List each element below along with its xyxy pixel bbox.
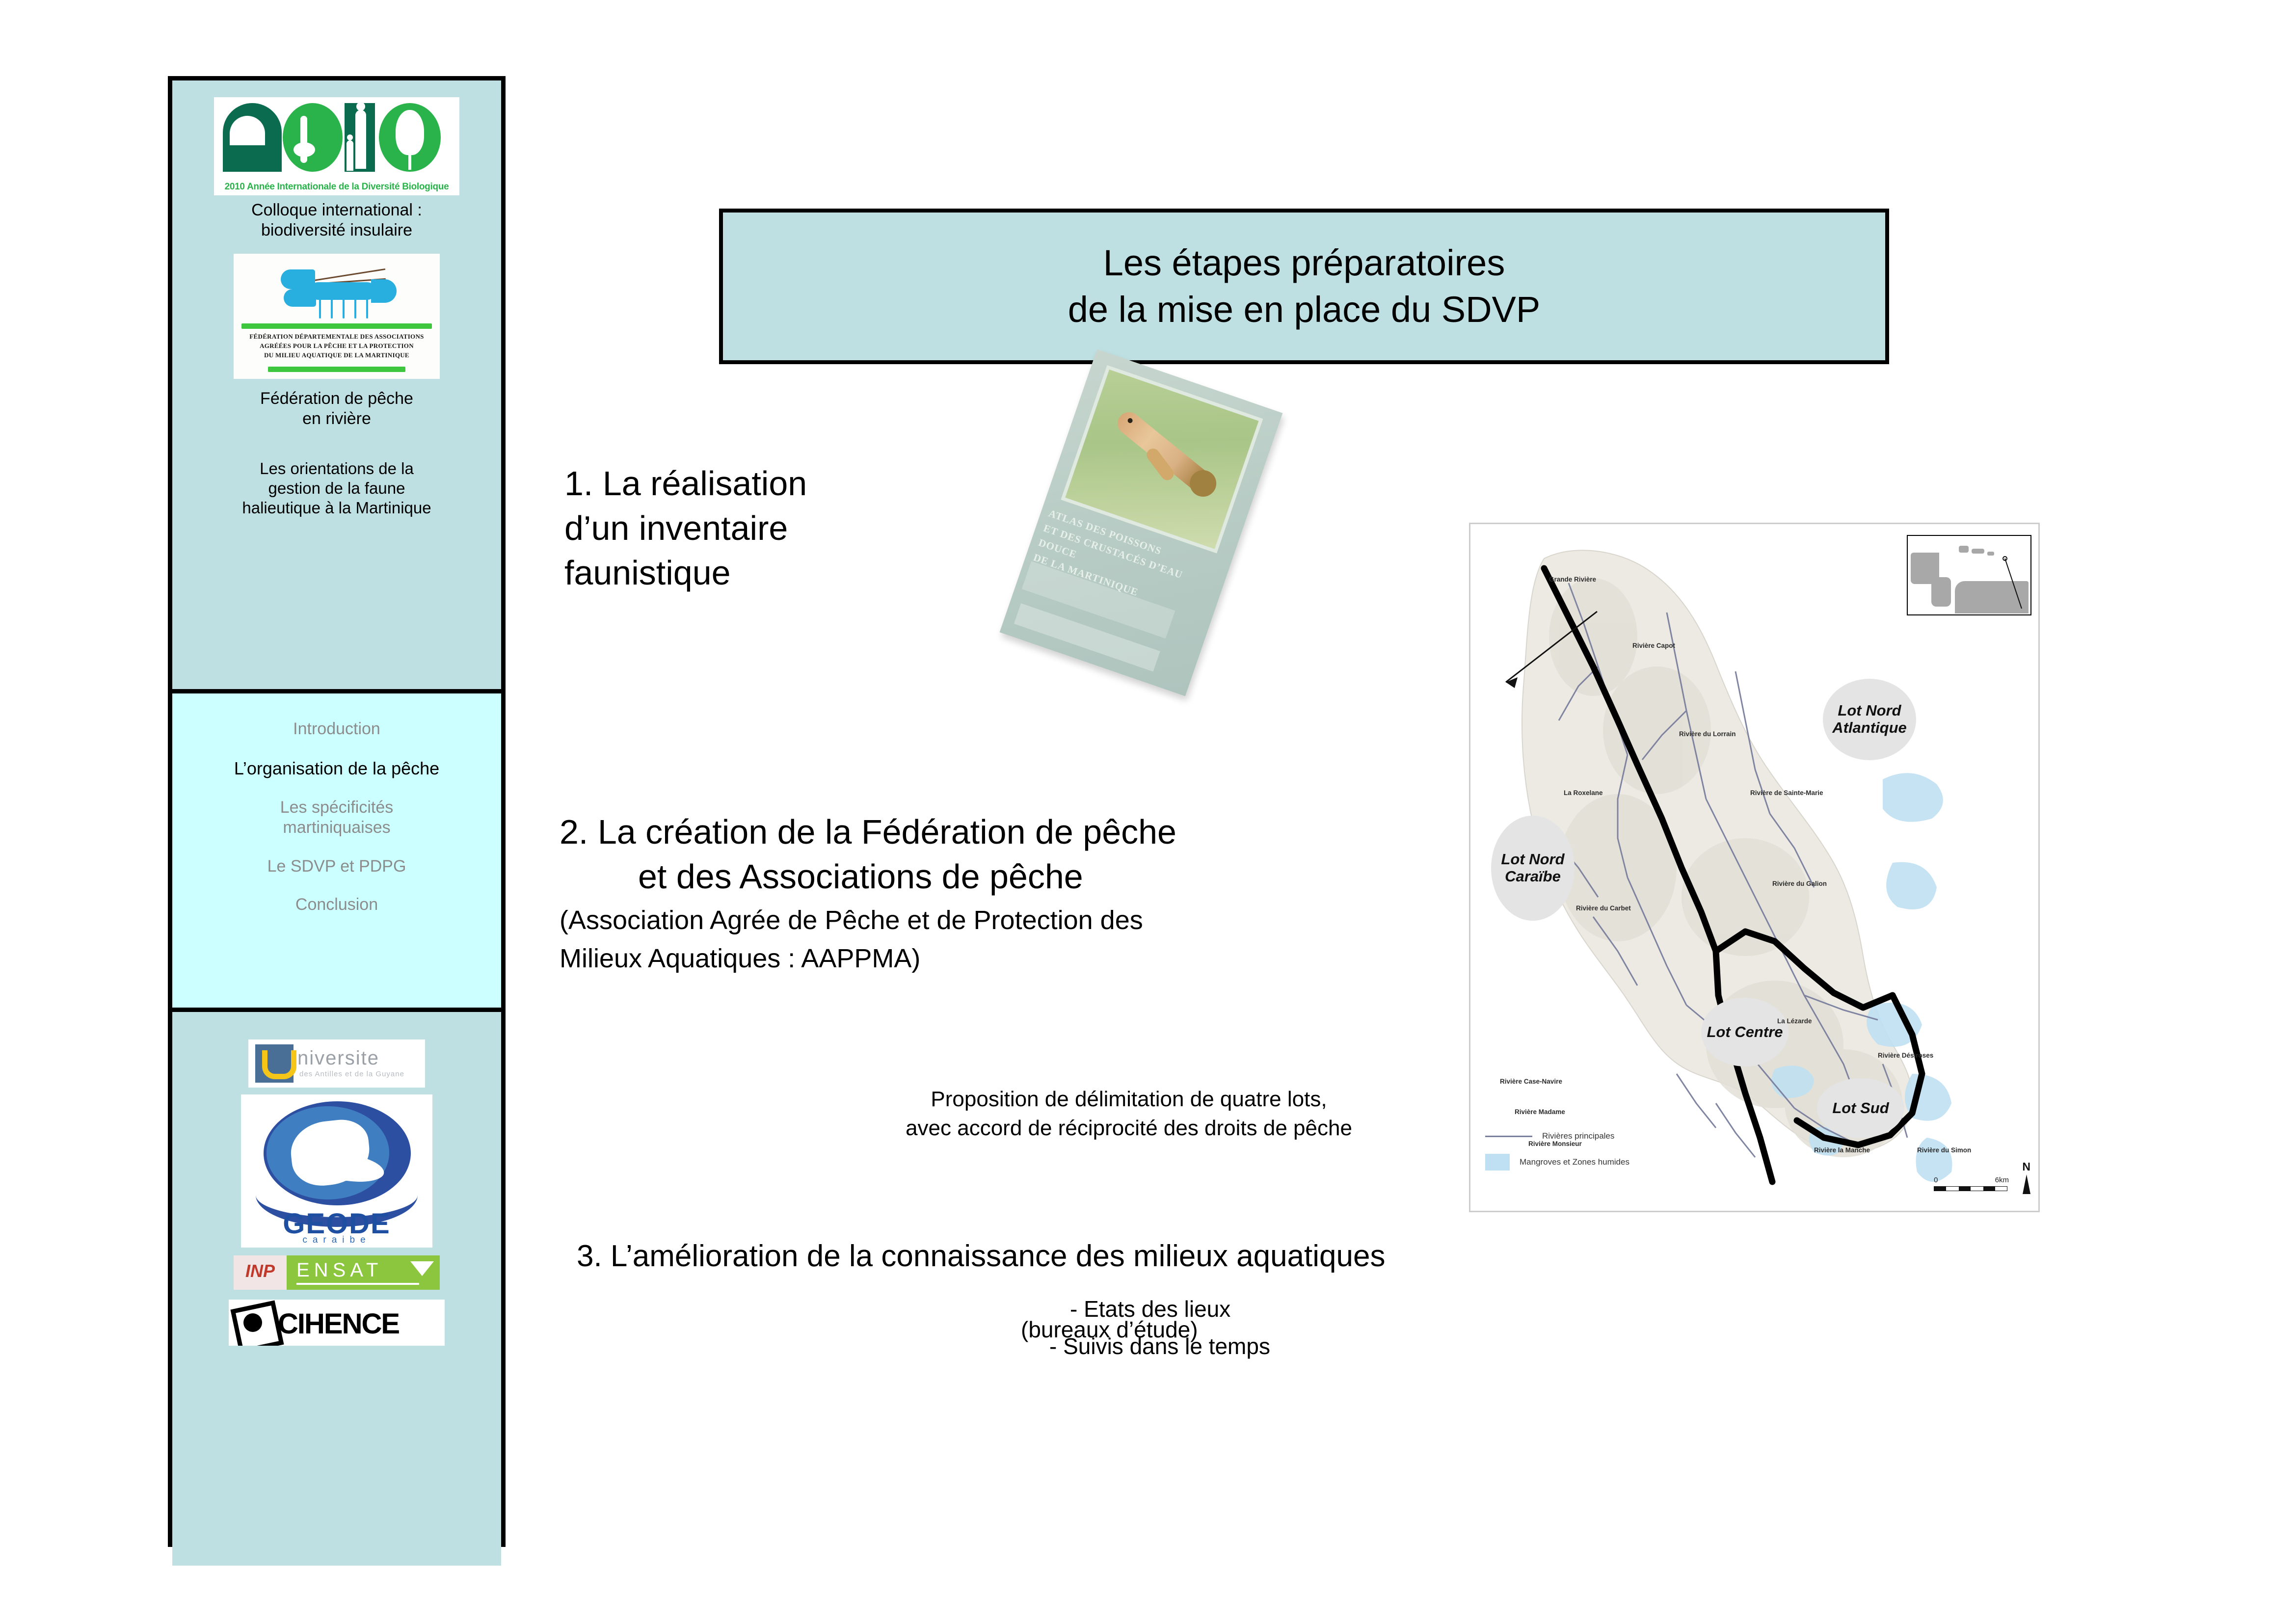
federation-caption: Fédération de pêche en rivière <box>172 389 501 429</box>
map-river-label: Rivière la Manche <box>1814 1146 1870 1154</box>
martinique-lots-map: Lot Nord Atlantique Lot Nord Caraïbe Lot… <box>1469 523 2040 1212</box>
map-river-label: Rivière Capot <box>1632 642 1675 649</box>
map-river-label: La Lézarde <box>1777 1017 1812 1025</box>
map-compass-north-icon: N <box>2022 1160 2030 1194</box>
legend-box-key <box>1485 1154 1510 1171</box>
map-inset-caribbean <box>1907 535 2031 615</box>
map-river-label: Grande Rivière <box>1549 576 1596 583</box>
sidebar-logos-panel: niversite des Antilles et de la Guyane G… <box>172 1039 501 1566</box>
biodiversity-2010-logo-icon: 2010 Année Internationale de la Diversit… <box>214 97 459 195</box>
map-scalebar: 0 6km <box>1934 1176 2009 1191</box>
map-river-label: Rivière Désiroses <box>1878 1052 1933 1059</box>
inp-logo-word: INP <box>234 1255 287 1290</box>
step-3-sub-suivis-temps: - Suivis dans le temps <box>1049 1333 1270 1359</box>
map-river-label: Rivière du Carbet <box>1576 905 1631 912</box>
map-inset-pointer <box>1470 608 1637 804</box>
cihence-logo-icon: CIHENCE <box>229 1300 445 1346</box>
sidebar-item-organisation-peche[interactable]: L’organisation de la pêche <box>172 758 501 779</box>
universite-logo-subtitle: des Antilles et de la Guyane <box>299 1070 404 1078</box>
map-river-label: Rivière de Sainte-Marie <box>1750 789 1823 797</box>
colloque-title: Colloque international : biodiversité in… <box>172 200 501 241</box>
fdaappma-lobster-logo-icon: FÉDÉRATION DÉPARTEMENTALE DES ASSOCIATIO… <box>234 254 440 379</box>
geode-logo-subtitle: caraibe <box>241 1235 432 1246</box>
map-lot-centre: Lot Centre <box>1701 998 1789 1066</box>
slide-title-line2: de la mise en place du SDVP <box>1068 287 1541 333</box>
map-river-label: Rivière Case-Navire <box>1500 1078 1562 1085</box>
legend-row-mangroves: Mangroves et Zones humides <box>1485 1154 1629 1171</box>
fdaappma-logo-text: FÉDÉRATION DÉPARTEMENTALE DES ASSOCIATIO… <box>234 332 440 360</box>
step-1-text: 1. La réalisation d’un inventaire faunis… <box>564 461 967 595</box>
sidebar-nav-panel: Introduction L’organisation de la pêche … <box>172 689 501 1012</box>
map-river-label: Rivière du Simon <box>1917 1146 1971 1154</box>
step-3-text: 3. L’amélioration de la connaissance des… <box>577 1237 1902 1277</box>
map-river-label: Rivière du Galion <box>1772 880 1827 887</box>
map-river-label: Rivière Madame <box>1515 1108 1565 1116</box>
atlas-book-image: ATLAS DES POISSONS ET DES CRUSTACÉS D’EA… <box>1033 363 1264 707</box>
legend-row-rivieres: Rivières principales <box>1485 1131 1629 1141</box>
slide-title-box: Les étapes préparatoires de la mise en p… <box>719 209 1889 364</box>
sidebar-item-conclusion[interactable]: Conclusion <box>172 895 501 915</box>
legend-line-key <box>1485 1136 1532 1137</box>
cihence-logo-word: CIHENCE <box>278 1307 399 1340</box>
map-river-label: Rivière du Lorrain <box>1679 730 1736 738</box>
orientations-caption: Les orientations de la gestion de la fau… <box>172 459 501 518</box>
slide-title-line1: Les étapes préparatoires <box>1103 240 1505 287</box>
sidebar-top-panel: 2010 Année Internationale de la Diversit… <box>172 80 501 689</box>
universite-antilles-guyane-logo-icon: niversite des Antilles et de la Guyane <box>248 1039 425 1088</box>
geode-caraibe-logo-icon: GEODE caraibe <box>241 1094 432 1248</box>
map-lot-sud: Lot Sud <box>1817 1078 1904 1138</box>
step-2-text: 2. La création de la Fédération de pêche… <box>560 810 1458 976</box>
inp-ensat-logo-icon: INP ENSAT <box>234 1255 440 1290</box>
sidebar-item-sdvp-pdpg[interactable]: Le SDVP et PDPG <box>172 856 501 877</box>
map-legend: Rivières principales Mangroves et Zones … <box>1485 1131 1629 1183</box>
map-lot-nord-atlantique: Lot Nord Atlantique <box>1823 679 1916 760</box>
sidebar: 2010 Année Internationale de la Diversit… <box>168 76 506 1547</box>
sidebar-item-introduction[interactable]: Introduction <box>172 719 501 739</box>
ensat-logo-word: ENSAT <box>296 1259 382 1281</box>
sidebar-item-specificites-martiniquaises[interactable]: Les spécificités martiniquaises <box>172 798 501 838</box>
universite-logo-word: niversite <box>297 1047 379 1069</box>
proposition-caption: Proposition de délimitation de quatre lo… <box>785 1085 1472 1143</box>
biodiversity-logo-caption: 2010 Année Internationale de la Diversit… <box>214 182 459 192</box>
map-lot-nord-caraibe: Lot Nord Caraïbe <box>1491 816 1575 921</box>
